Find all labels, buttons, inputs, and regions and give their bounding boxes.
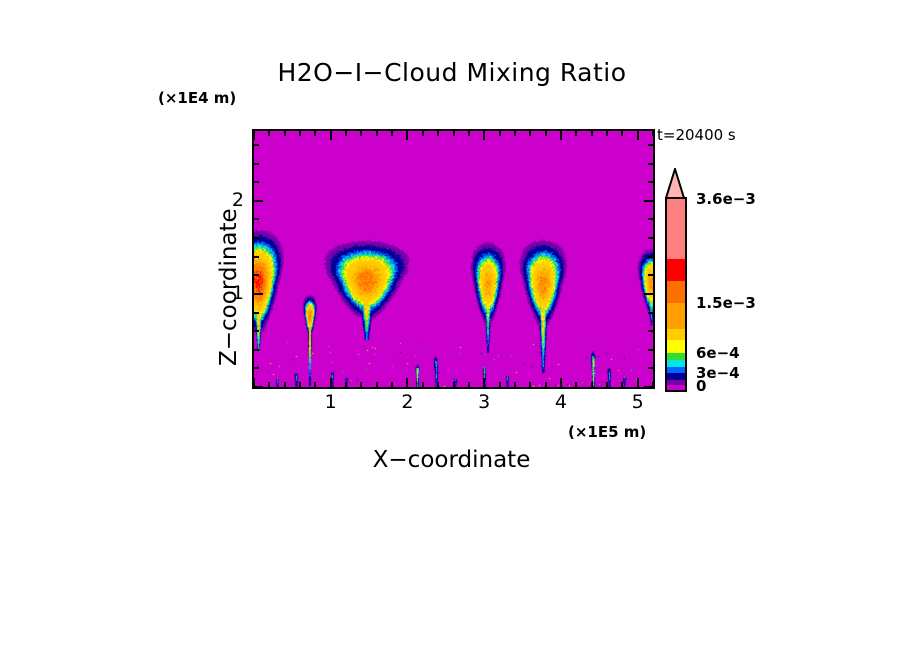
axis-tick [575,131,577,136]
axis-tick [648,237,653,239]
axis-tick [254,181,259,183]
axis-tick [637,378,639,387]
axis-tick [376,382,378,387]
axis-tick [314,131,316,136]
axis-tick [391,382,393,387]
y-tick-label: 1 [218,282,244,304]
colorbar-label: 1.5e−3 [696,294,756,312]
page-title: H2O−I−Cloud Mixing Ratio [0,58,904,87]
axis-tick [299,131,301,136]
heatmap-canvas [254,131,653,387]
axis-tick [391,131,393,136]
axis-tick [514,131,516,136]
colorbar-band [667,303,685,329]
colorbar-band [667,353,685,360]
axis-tick [284,382,286,387]
x-tick-label: 3 [469,391,499,413]
colorbar-band [667,259,685,281]
x-axis-title: X−coordinate [252,447,651,473]
axis-tick [560,378,562,387]
axis-tick [621,382,623,387]
colorbar-band [667,385,685,390]
axis-tick [468,131,470,136]
contour-plot-figure: H2O−I−Cloud Mixing Ratio (×1E4 m) (×1E5 … [0,0,904,654]
colorbar-band [667,340,685,353]
axis-tick [499,382,501,387]
axis-tick [621,131,623,136]
axis-tick [406,378,408,387]
colorbar-label: 0 [696,377,706,395]
colorbar-band [667,329,685,340]
colorbar-label: 3.6e−3 [696,190,756,208]
axis-tick [314,382,316,387]
axis-tick [254,349,259,351]
axis-tick [360,382,362,387]
axis-tick [254,386,263,388]
y-axis-unit-label: (×1E4 m) [158,89,236,107]
axis-tick [360,131,362,136]
axis-tick [254,293,263,295]
axis-tick [422,131,424,136]
axis-tick [483,131,485,140]
axis-tick [468,382,470,387]
colorbar-label: 6e−4 [696,344,740,362]
x-tick-label: 5 [623,391,653,413]
axis-tick [253,131,255,140]
axis-tick [644,386,653,388]
axis-tick [483,378,485,387]
x-tick-label: 2 [392,391,422,413]
axis-tick [330,378,332,387]
axis-tick [406,131,408,140]
axis-tick [591,382,593,387]
colorbar-arrow-icon [663,168,687,198]
axis-tick [606,382,608,387]
axis-tick [652,131,654,136]
axis-tick [648,163,653,165]
axis-tick [299,382,301,387]
colorbar-band [667,281,685,303]
axis-tick [499,131,501,136]
axis-tick [254,163,259,165]
axis-tick [575,382,577,387]
axis-tick [560,131,562,140]
axis-tick [648,181,653,183]
axis-tick [545,131,547,136]
axis-tick [254,200,263,202]
axis-tick [453,131,455,136]
axis-tick [529,382,531,387]
axis-tick [254,312,259,314]
axis-tick [648,274,653,276]
axis-tick [529,131,531,136]
axis-tick [545,382,547,387]
axis-tick [284,131,286,136]
axis-tick [591,131,593,136]
axis-tick [637,131,639,140]
axis-tick [644,293,653,295]
axis-tick [254,330,259,332]
axis-tick [254,144,259,146]
axis-tick [254,237,259,239]
axis-tick [644,200,653,202]
axis-tick [268,382,270,387]
axis-tick [254,218,259,220]
y-tick-label: 2 [218,189,244,211]
colorbar-bands [665,197,687,392]
axis-tick [648,312,653,314]
axis-tick [345,131,347,136]
axis-tick [437,382,439,387]
axis-tick [514,382,516,387]
axis-tick [437,131,439,136]
axis-tick [606,131,608,136]
x-tick-label: 4 [546,391,576,413]
axis-tick [453,382,455,387]
axis-tick [345,382,347,387]
x-axis-unit-label: (×1E5 m) [568,423,646,441]
colorbar-band [667,199,685,259]
x-tick-label: 1 [316,391,346,413]
axis-tick [648,349,653,351]
axis-tick [254,256,259,258]
axis-tick [254,274,259,276]
axis-tick [648,330,653,332]
timestamp-annotation: t=20400 s [657,126,736,144]
axis-tick [648,367,653,369]
axis-tick [422,382,424,387]
axis-tick [648,256,653,258]
axis-tick [648,144,653,146]
axis-tick [268,131,270,136]
axis-tick [330,131,332,140]
axis-tick [376,131,378,136]
plot-area [252,129,655,389]
axis-tick [254,367,259,369]
axis-tick [648,218,653,220]
